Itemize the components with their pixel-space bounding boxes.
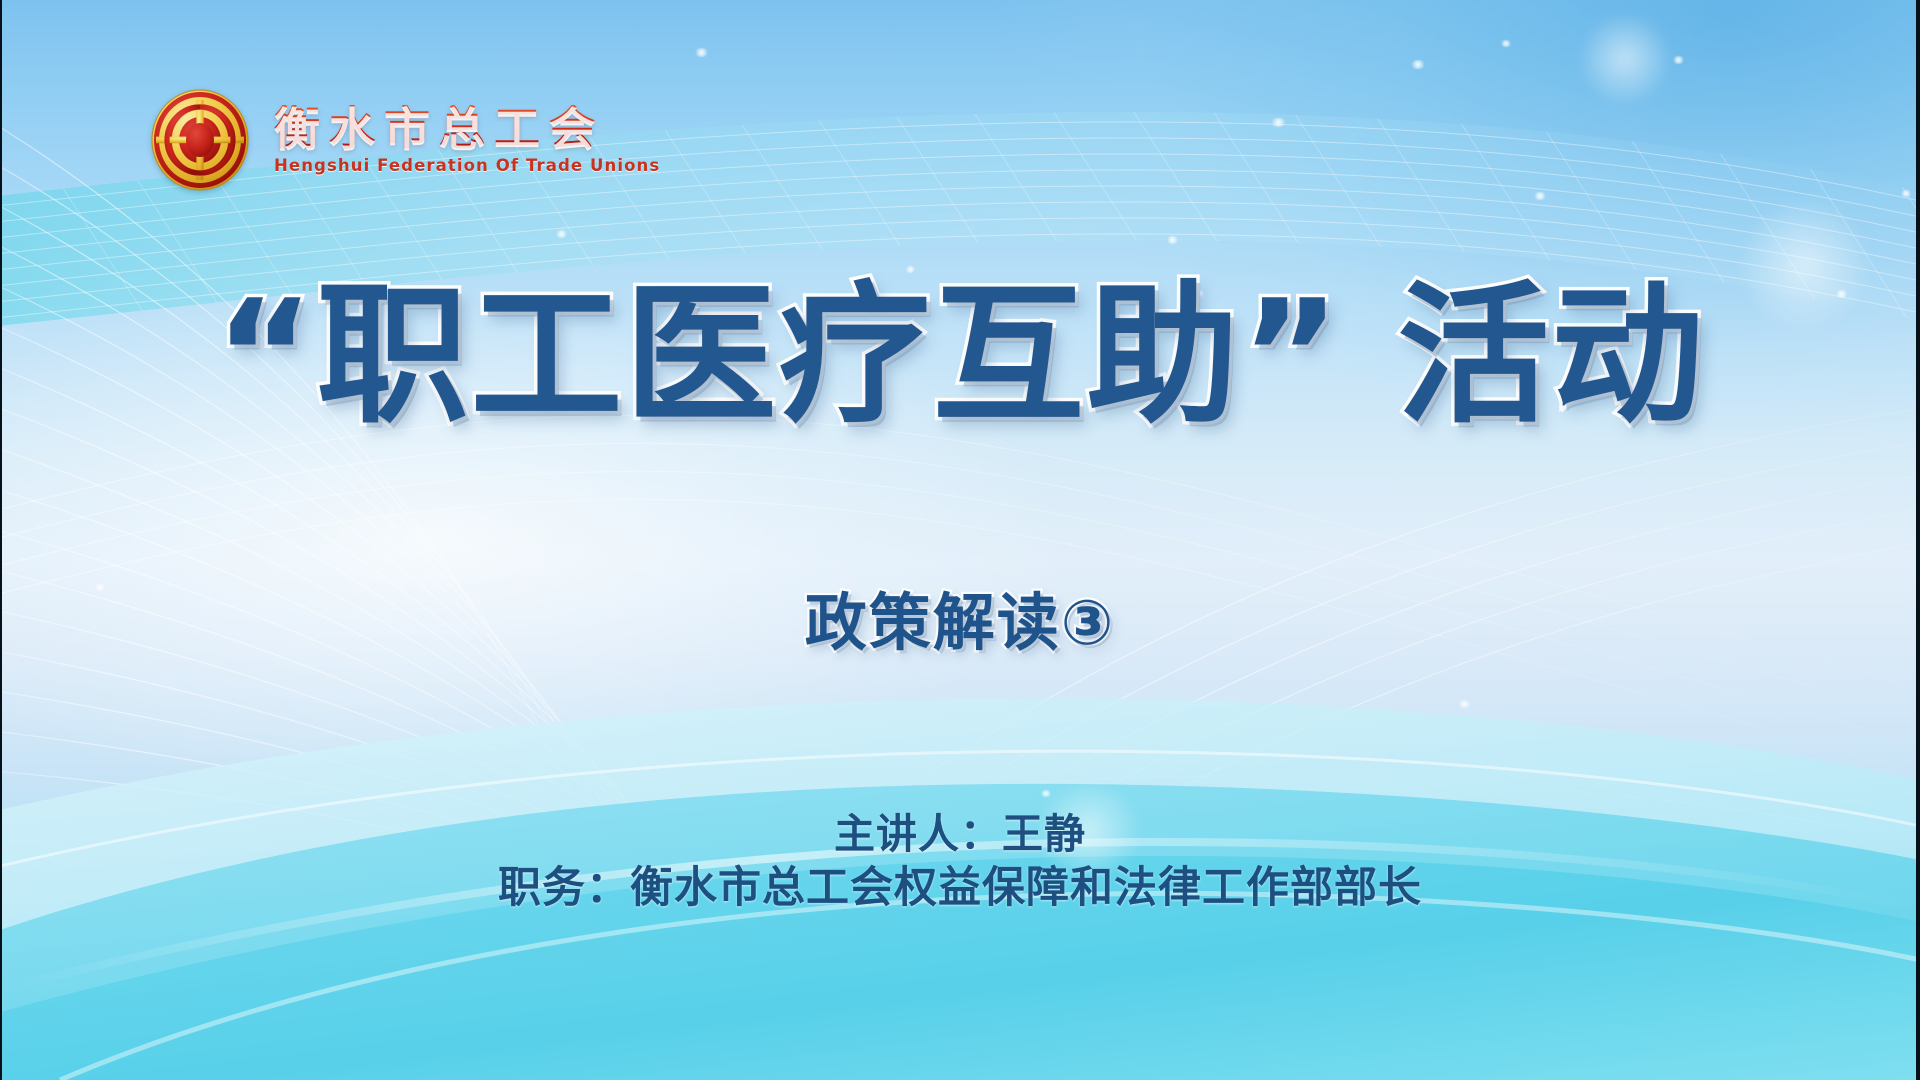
bokeh-dot xyxy=(1500,40,1512,47)
subtitle-area: 政策解读③ xyxy=(0,572,1920,662)
bokeh-dot xyxy=(1458,700,1471,708)
title-area: “职工医疗互助” 活动 xyxy=(0,278,1920,433)
title-slide: 衡水市总工会 Hengshui Federation Of Trade Unio… xyxy=(0,0,1920,1080)
bokeh-dot xyxy=(1166,236,1179,244)
presenter-info: 主讲人：王静 职务：衡水市总工会权益保障和法律工作部部长 xyxy=(0,808,1920,917)
bokeh-dot xyxy=(1040,790,1052,797)
bokeh-dot xyxy=(1270,118,1287,127)
organization-name-en: Hengshui Federation Of Trade Unions xyxy=(274,158,660,175)
logo-text-block: 衡水市总工会 Hengshui Federation Of Trade Unio… xyxy=(274,105,660,175)
presenter-role-line: 职务：衡水市总工会权益保障和法律工作部部长 xyxy=(0,861,1920,917)
bokeh-glow xyxy=(1580,14,1670,104)
page-title: “职工医疗互助” 活动 xyxy=(215,278,1706,433)
presenter-speaker-line: 主讲人：王静 xyxy=(0,808,1920,861)
frame-edge-left xyxy=(0,0,2,1080)
bokeh-dot xyxy=(1900,190,1912,197)
bokeh-dot xyxy=(1410,60,1426,69)
bokeh-dot xyxy=(555,230,568,238)
bokeh-dot xyxy=(1672,56,1685,64)
bokeh-dot xyxy=(694,48,709,57)
acftu-union-emblem-icon xyxy=(150,88,250,192)
frame-edge-right xyxy=(1916,0,1920,1080)
organization-logo: 衡水市总工会 Hengshui Federation Of Trade Unio… xyxy=(150,88,660,192)
bokeh-dot xyxy=(1533,192,1547,200)
page-subtitle: 政策解读③ xyxy=(805,572,1116,662)
organization-name-cn: 衡水市总工会 xyxy=(274,105,608,151)
